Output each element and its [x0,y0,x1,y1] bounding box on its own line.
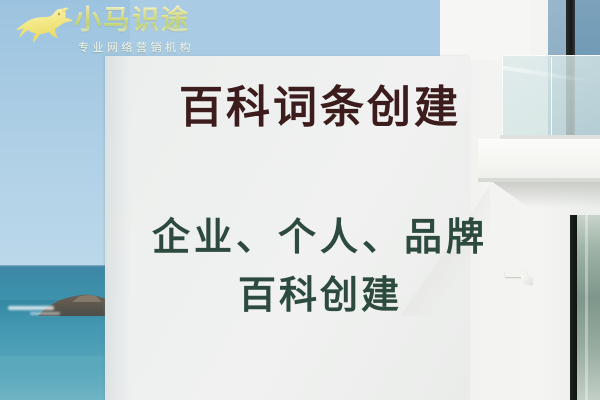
galloping-horse-icon [12,6,78,46]
brand-logo[interactable]: 小马识途 专业网络营销机构 [8,2,208,56]
headline-sub-line-2: 百科创建 [105,266,535,324]
lower-window-reflection [585,215,588,400]
brand-tagline: 专业网络营销机构 [78,39,194,55]
headline-sub: 企业、个人、品牌 百科创建 [105,208,535,324]
balcony-slab [478,139,600,182]
surf-foam-secondary [30,312,60,315]
upper-white-panel [440,0,530,60]
glass-railing-seam [551,57,552,137]
headline-main: 百科词条创建 [105,80,535,136]
headline-sub-line-1: 企业、个人、品牌 [152,214,488,259]
brand-name: 小马识途 [74,5,190,36]
surf-foam [8,306,54,310]
balcony-slab-edge [478,178,600,182]
promo-banner: 小马识途 专业网络营销机构 百科词条创建 企业、个人、品牌 百科创建 [0,0,600,400]
lower-window-glass [577,215,600,400]
window-frame-lower [570,215,577,400]
